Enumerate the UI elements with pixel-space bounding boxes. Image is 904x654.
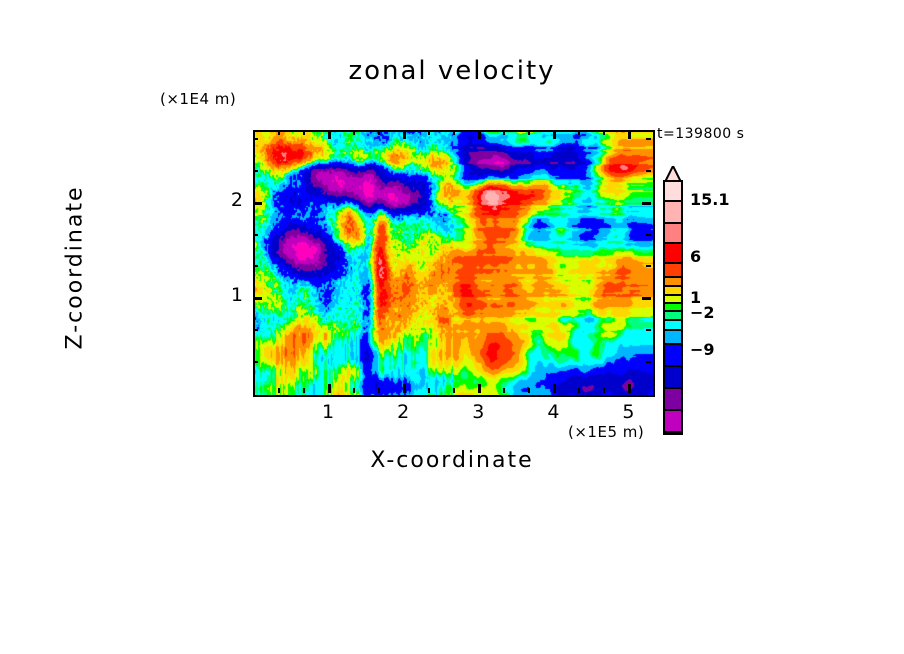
tick-mark — [642, 297, 651, 300]
tick-mark — [603, 130, 605, 135]
tick-mark — [303, 130, 305, 135]
x-tick-label: 4 — [533, 401, 573, 423]
tick-mark — [278, 130, 280, 135]
tick-mark — [253, 329, 258, 331]
tick-mark — [478, 130, 481, 139]
tick-mark — [253, 138, 258, 140]
colorbar-band — [663, 433, 683, 435]
tick-mark — [628, 384, 631, 393]
y-tick-label: 2 — [203, 189, 243, 211]
x-axis-title: X-coordinate — [0, 448, 904, 473]
y-axis-unit-label: (×1E4 m) — [160, 90, 236, 108]
colorbar-band — [663, 367, 683, 389]
colorbar-tick-label: 15.1 — [690, 190, 729, 209]
tick-mark — [578, 388, 580, 393]
colorbar-tick-label: −9 — [690, 340, 715, 359]
tick-mark — [503, 130, 505, 135]
tick-mark — [378, 130, 380, 135]
tick-mark — [328, 384, 331, 393]
tick-mark — [528, 130, 530, 135]
tick-mark — [453, 130, 455, 135]
colorbar-band — [663, 312, 683, 321]
tick-mark — [428, 388, 430, 393]
tick-mark — [603, 388, 605, 393]
tick-mark — [528, 388, 530, 393]
colorbar-band — [663, 244, 683, 264]
tick-mark — [578, 130, 580, 135]
tick-mark — [403, 130, 406, 139]
tick-mark — [642, 202, 651, 205]
y-tick-label: 1 — [203, 284, 243, 306]
tick-mark — [553, 130, 556, 139]
colorbar-band — [663, 202, 683, 224]
tick-mark — [378, 388, 380, 393]
colorbar-band — [663, 331, 683, 345]
time-annotation: t=139800 s — [657, 126, 744, 142]
colorbar-band — [663, 264, 683, 278]
tick-mark — [353, 130, 355, 135]
tick-mark — [328, 130, 331, 139]
tick-mark — [646, 329, 651, 331]
colorbar-band — [663, 287, 683, 296]
tick-mark — [278, 388, 280, 393]
tick-mark — [428, 130, 430, 135]
colorbar-band — [663, 296, 683, 304]
colorbar — [663, 180, 683, 435]
tick-mark — [646, 234, 651, 236]
x-tick-label: 3 — [458, 401, 498, 423]
colorbar-band — [663, 321, 683, 331]
colorbar-band — [663, 278, 683, 287]
tick-mark — [646, 361, 651, 363]
colorbar-band — [663, 411, 683, 433]
tick-mark — [453, 388, 455, 393]
tick-mark — [503, 388, 505, 393]
tick-mark — [646, 170, 651, 172]
tick-mark — [478, 384, 481, 393]
colorbar-band — [663, 304, 683, 312]
tick-mark — [353, 388, 355, 393]
colorbar-band — [663, 180, 683, 202]
colorbar-tick-label: −2 — [690, 303, 715, 322]
tick-mark — [403, 384, 406, 393]
plot-area — [253, 130, 655, 397]
tick-mark — [253, 202, 262, 205]
tick-mark — [253, 297, 262, 300]
x-tick-label: 5 — [608, 401, 648, 423]
colorbar-band — [663, 345, 683, 367]
tick-mark — [553, 384, 556, 393]
x-tick-label: 1 — [308, 401, 348, 423]
tick-mark — [253, 234, 258, 236]
tick-mark — [253, 170, 258, 172]
tick-mark — [628, 130, 631, 139]
colorbar-band — [663, 224, 683, 244]
tick-mark — [253, 265, 258, 267]
colorbar-tick-label: 6 — [690, 247, 701, 266]
tick-mark — [303, 388, 305, 393]
tick-mark — [646, 138, 651, 140]
chart-title: zonal velocity — [0, 56, 904, 86]
tick-mark — [646, 265, 651, 267]
x-axis-unit-label: (×1E5 m) — [568, 423, 644, 441]
x-tick-label: 2 — [383, 401, 423, 423]
colorbar-band — [663, 389, 683, 411]
tick-mark — [253, 361, 258, 363]
y-axis-title: Z-coordinate — [63, 108, 88, 428]
contour-field — [255, 132, 653, 395]
